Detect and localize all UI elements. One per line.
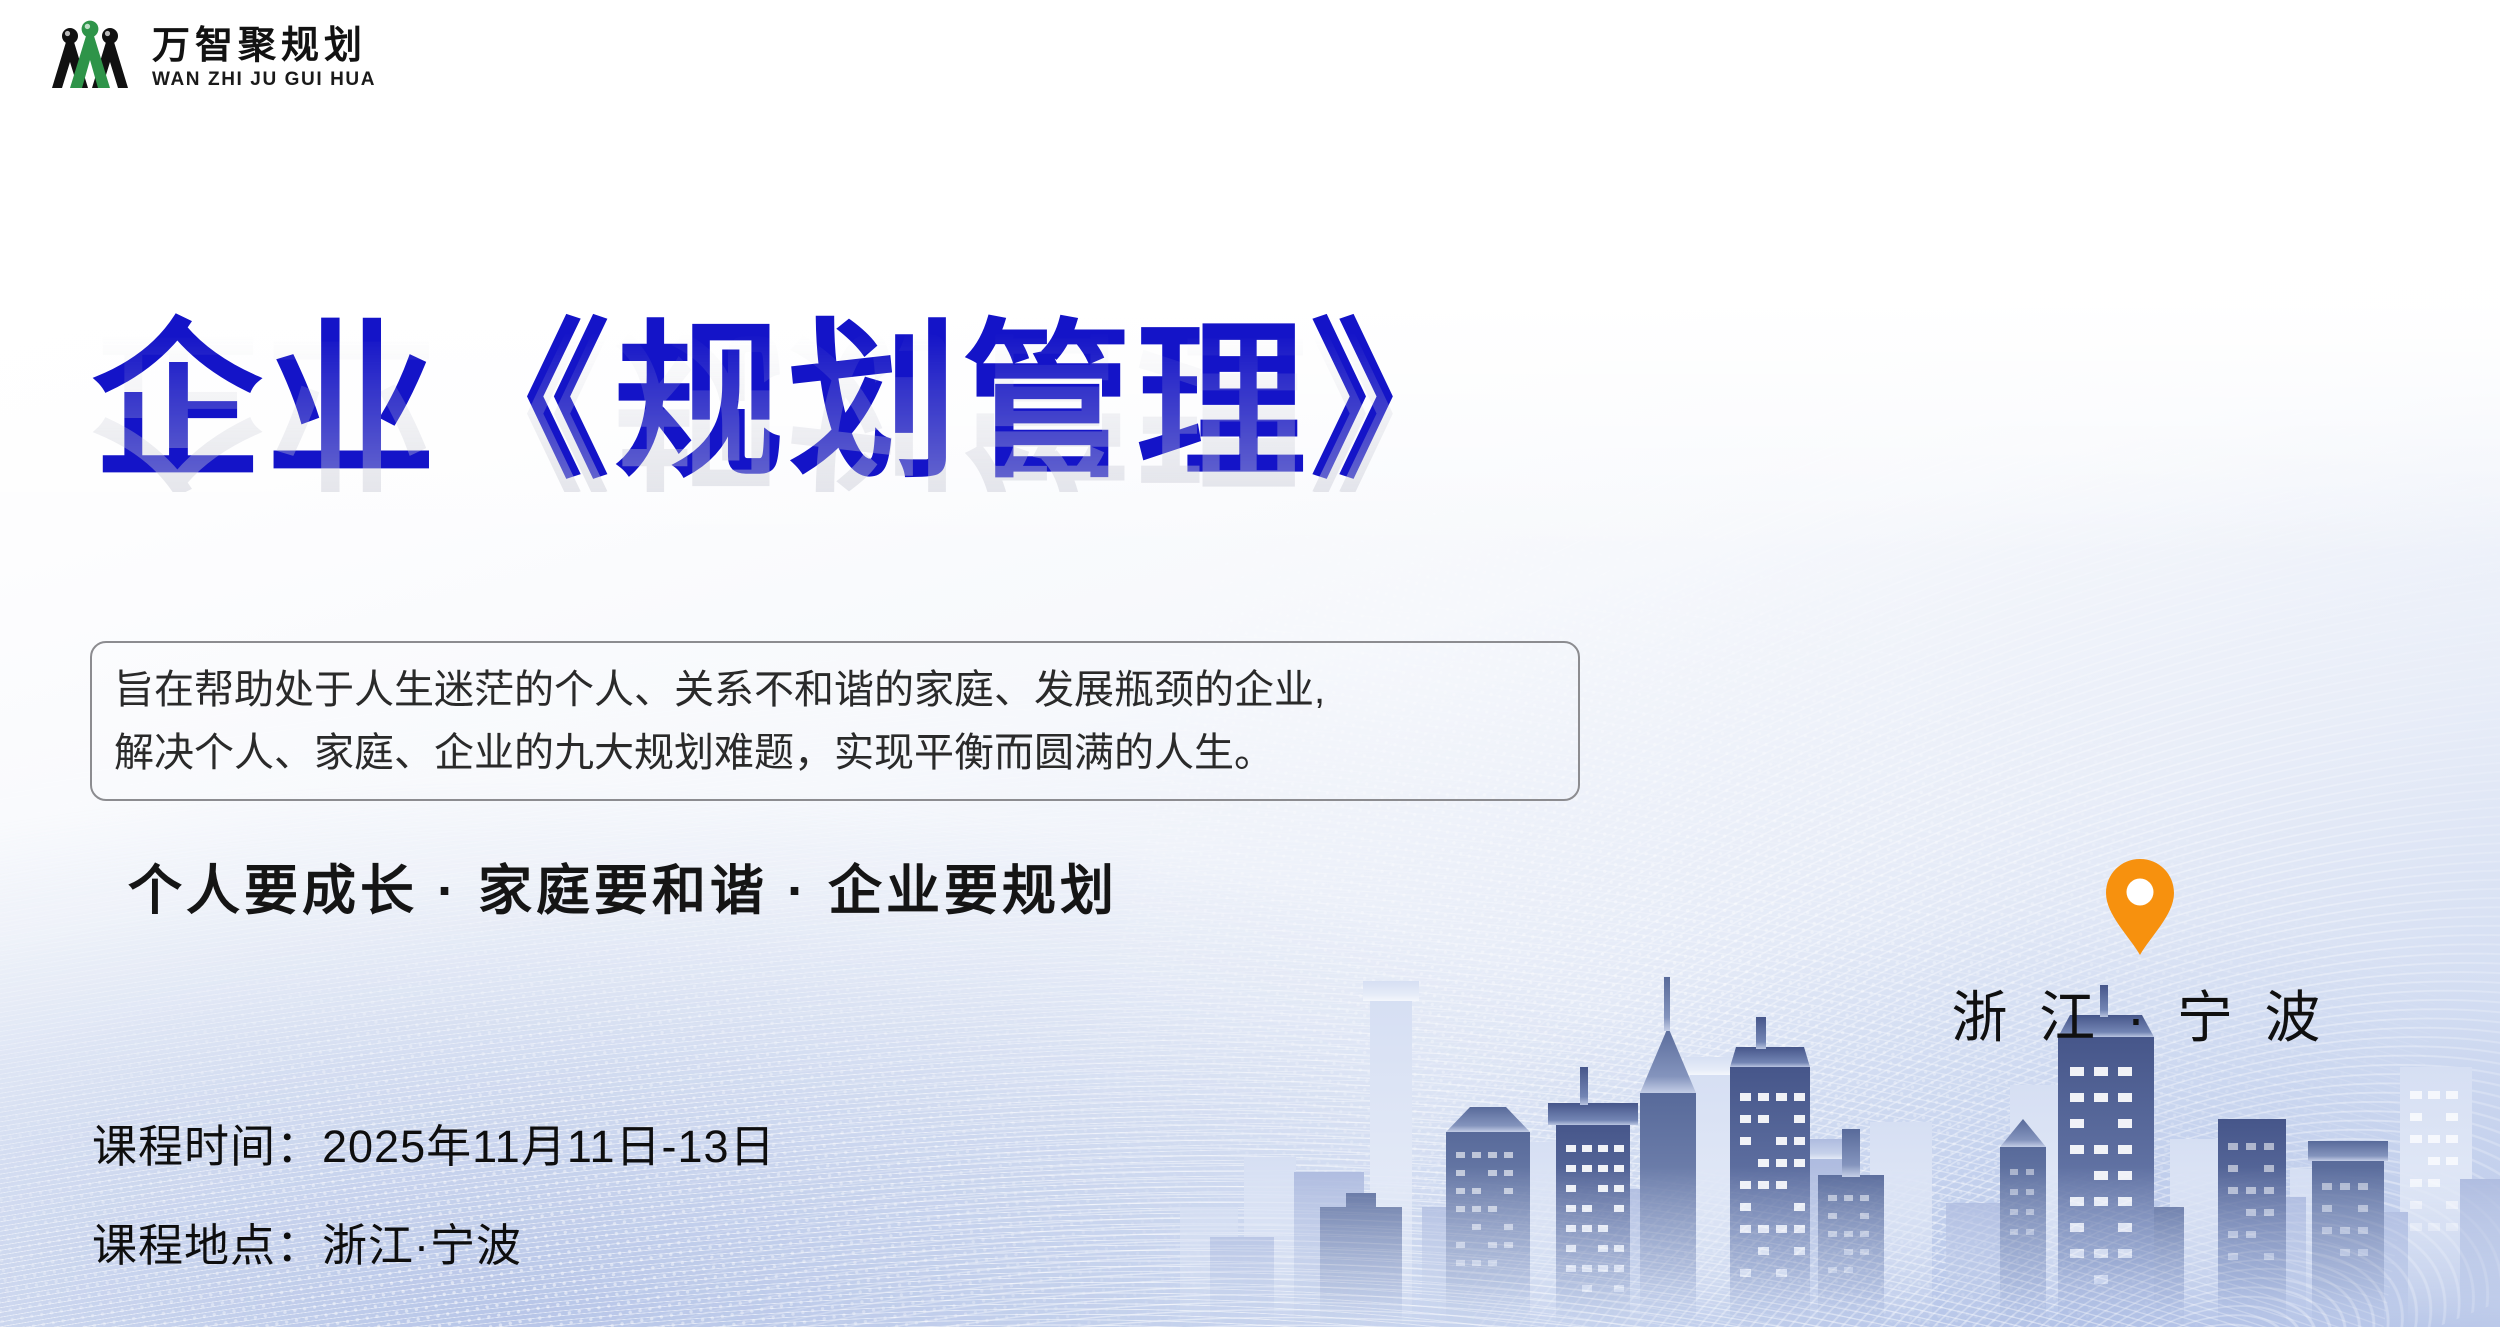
brand-name-en: WAN ZHI JU GUI HUA	[152, 69, 376, 91]
location-label: 浙 江 · 宁 波	[1952, 973, 2329, 1054]
description-line-2: 解决个人、家庭、企业的九大规划难题，实现平衡而圆满的人生。	[114, 722, 1556, 785]
brand-name-cn: 万智聚规划	[152, 27, 376, 67]
course-info: 课程时间：2025年11月11日-13日 课程地点：浙江·宁波	[92, 1110, 776, 1274]
three-people-logo-icon	[44, 18, 136, 96]
map-pin-icon	[2100, 855, 2180, 959]
hero-title-group: 企业《规划管理》 企业《规划管理》	[92, 318, 1484, 662]
location-badge: 浙 江 · 宁 波	[1950, 855, 2330, 1054]
description-box: 旨在帮助处于人生迷茫的个人、关系不和谐的家庭、发展瓶颈的企业, 解决个人、家庭、…	[90, 641, 1580, 801]
course-place: 课程地点：浙江·宁波	[92, 1209, 776, 1274]
course-time: 课程时间：2025年11月11日-13日	[92, 1110, 776, 1175]
page-title-reflection: 企业《规划管理》	[92, 322, 1484, 492]
poster-canvas: 万智聚规划 WAN ZHI JU GUI HUA 企业《规划管理》 企业《规划管…	[0, 0, 2500, 1327]
description-line-1: 旨在帮助处于人生迷茫的个人、关系不和谐的家庭、发展瓶颈的企业,	[114, 659, 1556, 722]
brand-logo: 万智聚规划 WAN ZHI JU GUI HUA	[44, 18, 376, 96]
tagline: 个人要成长 · 家庭要和谐 · 企业要规划	[128, 846, 1118, 925]
brand-text: 万智聚规划 WAN ZHI JU GUI HUA	[152, 23, 376, 91]
